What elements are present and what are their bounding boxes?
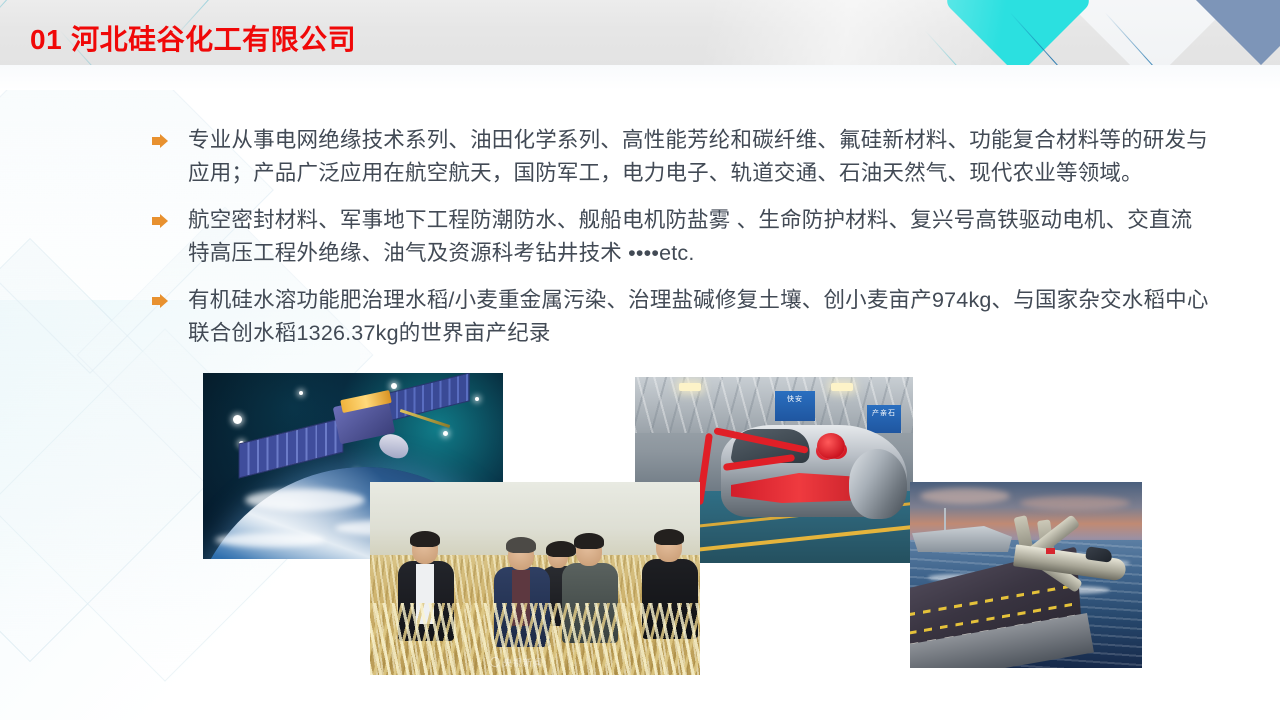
person-hair [546, 541, 576, 557]
red-ribbon-flower [817, 433, 845, 459]
arrow-bullet-icon [152, 135, 168, 147]
list-item-text: 专业从事电网绝缘技术系列、油田化学系列、高性能芳纶和碳纤维、氟硅新材料、功能复合… [188, 124, 1212, 190]
star [299, 391, 303, 395]
background-band [0, 64, 1280, 90]
list-item-text: 有机硅水溶功能肥治理水稻/小麦重金属污染、治理盐碱修复土壤、创小麦亩产974kg… [188, 284, 1212, 350]
list-item-text: 航空密封材料、军事地下工程防潮防水、舰船电机防盐雾 、生命防护材料、复兴号高铁驱… [188, 204, 1212, 270]
cloud [215, 533, 325, 547]
page-title: 01河北硅谷化工有限公司 [30, 18, 356, 58]
page-title-text: 河北硅谷化工有限公司 [71, 24, 356, 55]
person-hair [574, 533, 604, 549]
rice-field-inspection-photo: 央视新闻 [370, 482, 700, 675]
arrow-bullet-icon [152, 215, 168, 227]
ceiling-light [679, 383, 701, 391]
train-nose-cone [849, 449, 907, 519]
presentation-slide: 01河北硅谷化工有限公司 专业从事电网绝缘技术系列、油田化学系列、高性能芳纶和碳… [0, 0, 1280, 720]
weibo-logo-icon [490, 657, 500, 667]
star [475, 397, 479, 401]
person-hair [506, 537, 536, 553]
cloud [920, 488, 1010, 504]
aircraft-carrier-fighter-jet-photo [910, 482, 1142, 668]
list-item: 专业从事电网绝缘技术系列、油田化学系列、高性能芳纶和碳纤维、氟硅新材料、功能复合… [152, 124, 1212, 190]
person-hair [654, 529, 684, 545]
photo-watermark: 央视新闻 [490, 656, 543, 669]
cloud [245, 489, 365, 511]
factory-banner: 产亲石 [867, 405, 901, 433]
star [391, 383, 397, 389]
factory-banner: 快安 [775, 391, 815, 421]
list-item: 有机硅水溶功能肥治理水稻/小麦重金属污染、治理盐碱修复土壤、创小麦亩产974kg… [152, 284, 1212, 350]
cloud [1020, 496, 1130, 510]
fighter-jet [1006, 518, 1126, 604]
ship-mast [944, 508, 946, 530]
slide-number: 01 [30, 24, 62, 55]
ceiling-light [831, 383, 853, 391]
bullet-list: 专业从事电网绝缘技术系列、油田化学系列、高性能芳纶和碳纤维、氟硅新材料、功能复合… [152, 124, 1212, 364]
star [443, 431, 448, 436]
arrow-bullet-icon [152, 295, 168, 307]
list-item: 航空密封材料、军事地下工程防潮防水、舰船电机防盐雾 、生命防护材料、复兴号高铁驱… [152, 204, 1212, 270]
star [233, 415, 242, 424]
person-hair [410, 531, 440, 547]
jet-flag-marking [1046, 548, 1055, 554]
photo-watermark-text: 央视新闻 [503, 658, 543, 668]
